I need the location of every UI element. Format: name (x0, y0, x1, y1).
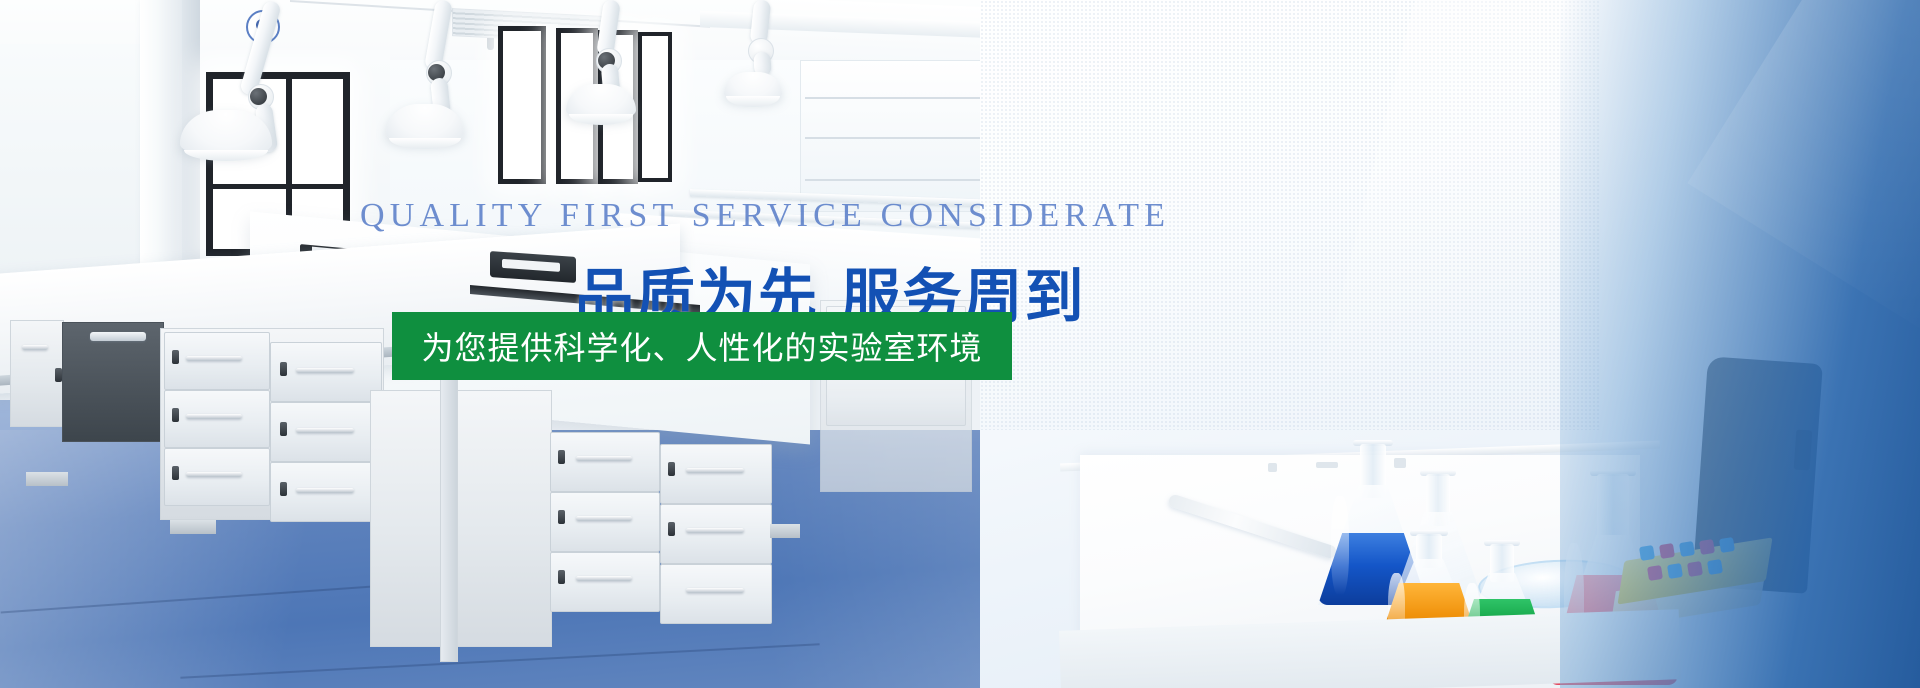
subheadline-green-bar: 为您提供科学化、人性化的实验室环境 (392, 312, 1012, 380)
subheadline-chinese: 为您提供科学化、人性化的实验室环境 (421, 323, 982, 369)
lab-promo-banner: QUALITY FIRST SERVICE CONSIDERATE 品质为先 服… (0, 0, 1920, 688)
banner-text-overlay: QUALITY FIRST SERVICE CONSIDERATE 品质为先 服… (0, 0, 1920, 688)
headline-english: QUALITY FIRST SERVICE CONSIDERATE (360, 197, 1040, 235)
